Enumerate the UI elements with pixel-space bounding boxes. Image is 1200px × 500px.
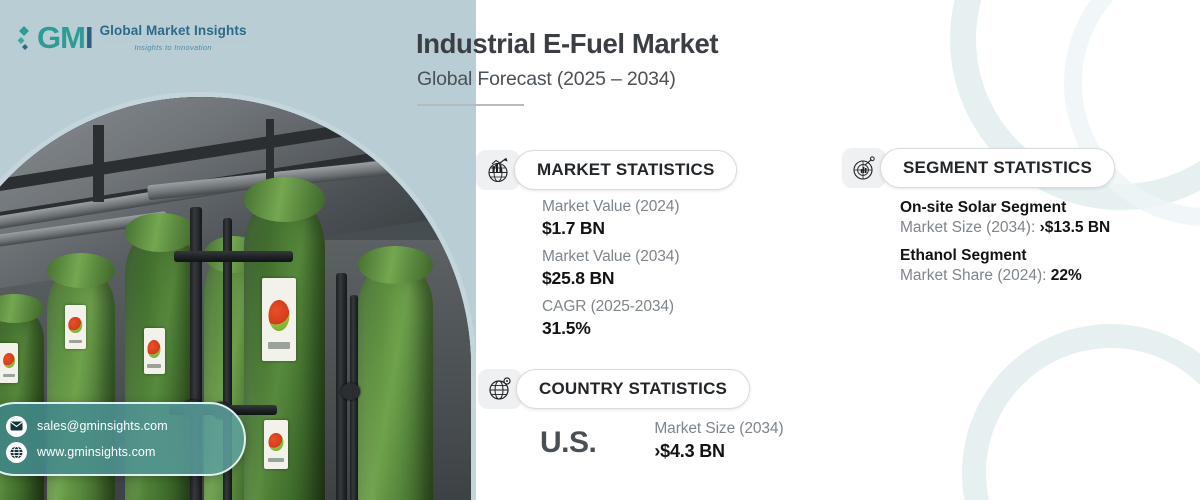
country-statistics-body: U.S. Market Size (2034) ›$4.3 BN xyxy=(540,420,784,462)
brand-logo[interactable]: GMI Global Market Insights Insights to I… xyxy=(16,22,247,53)
section-title-pill-segment: SEGMENT STATISTICS xyxy=(880,148,1115,188)
brand-tagline: Insights to Innovation xyxy=(100,44,247,52)
contact-website: www.gminsights.com xyxy=(37,445,156,459)
section-header-country-statistics: COUNTRY STATISTICS xyxy=(478,369,750,409)
contact-email: sales@gminsights.com xyxy=(37,419,168,433)
contact-pill: sales@gminsights.com www.gminsights.com xyxy=(0,402,246,476)
brand-name: Global Market Insights xyxy=(100,24,247,38)
market-row-2-label: CAGR (2025-2034) xyxy=(542,298,679,316)
contact-email-row[interactable]: sales@gminsights.com xyxy=(6,416,244,437)
segment-1-row: Market Share (2024): 22% xyxy=(900,267,1110,285)
segment-0-name: On-site Solar Segment xyxy=(900,199,1110,217)
market-row-1-value: $25.8 BN xyxy=(542,268,679,289)
country-statistics-heading: COUNTRY STATISTICS xyxy=(539,379,727,399)
envelope-icon xyxy=(6,416,27,437)
market-statistics-body: Market Value (2024) $1.7 BN Market Value… xyxy=(542,198,679,348)
market-row-2-value: 31.5% xyxy=(542,318,679,339)
segment-0-row: Market Size (2034): ›$13.5 BN xyxy=(900,219,1110,237)
country-metric-label: Market Size (2034) xyxy=(654,420,783,438)
segment-1-metric: Market Share (2024): xyxy=(900,267,1051,284)
segment-1-value: 22% xyxy=(1051,267,1082,284)
segment-statistics-heading: SEGMENT STATISTICS xyxy=(903,158,1092,178)
section-header-market-statistics: MARKET STATISTICS xyxy=(476,150,737,190)
page-subtitle: Global Forecast (2025 – 2034) xyxy=(417,68,676,91)
title-divider xyxy=(417,104,524,106)
decorative-arc-bottom-right xyxy=(962,324,1200,500)
market-row-1-label: Market Value (2034) xyxy=(542,248,679,266)
market-row-0-label: Market Value (2024) xyxy=(542,198,679,216)
market-row-0-value: $1.7 BN xyxy=(542,218,679,239)
gmi-wordmark: GMI xyxy=(37,22,93,53)
infographic-canvas: sales@gminsights.com www.gminsights.com xyxy=(0,0,1200,500)
section-title-pill-market: MARKET STATISTICS xyxy=(514,150,737,190)
country-name: U.S. xyxy=(540,420,596,458)
section-title-pill-country: COUNTRY STATISTICS xyxy=(516,369,750,409)
segment-0-value: ›$13.5 BN xyxy=(1040,219,1111,236)
segment-0-metric: Market Size (2034): xyxy=(900,219,1040,236)
page-title: Industrial E-Fuel Market xyxy=(416,28,718,60)
logo-divider xyxy=(100,41,247,42)
section-header-segment-statistics: SEGMENT STATISTICS xyxy=(842,148,1115,188)
country-metric-value: ›$4.3 BN xyxy=(654,441,783,462)
segment-statistics-body: On-site Solar Segment Market Size (2034)… xyxy=(900,199,1110,295)
photo-panel: sales@gminsights.com www.gminsights.com xyxy=(0,0,476,500)
globe-icon xyxy=(6,442,27,463)
market-statistics-heading: MARKET STATISTICS xyxy=(537,160,714,180)
gmi-logo-mark-icon: GMI xyxy=(16,22,93,53)
contact-website-row[interactable]: www.gminsights.com xyxy=(6,442,244,463)
segment-1-name: Ethanol Segment xyxy=(900,247,1110,265)
